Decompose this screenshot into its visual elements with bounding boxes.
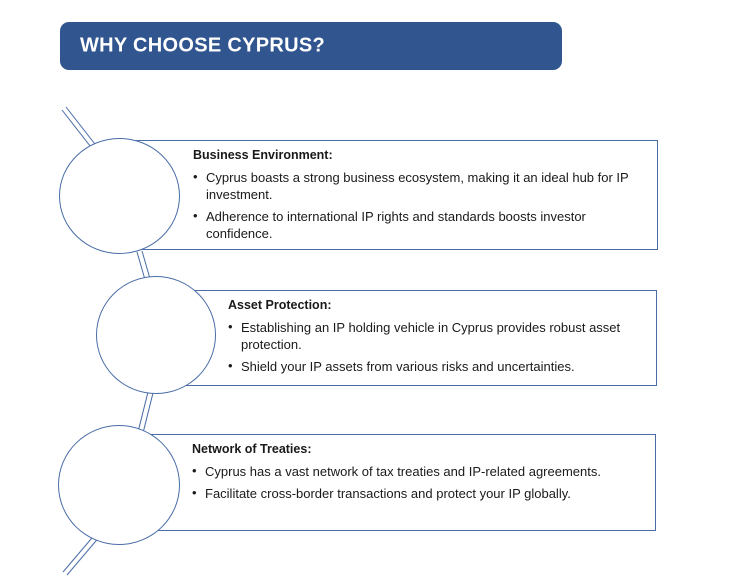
connector-2-3-icon bbox=[138, 392, 153, 433]
node-circle-2 bbox=[96, 276, 216, 394]
list-item: Cyprus boasts a strong business ecosyste… bbox=[193, 169, 649, 203]
content-box-3: Network of Treaties: Cyprus has a vast n… bbox=[119, 434, 656, 531]
block-heading-3: Network of Treaties: bbox=[192, 442, 647, 458]
node-circle-3 bbox=[58, 425, 180, 545]
infographic-page: WHY CHOOSE CYPRUS? bbox=[0, 0, 745, 586]
content-box-2-inner: Asset Protection: Establishing an IP hol… bbox=[228, 291, 648, 385]
bullet-list-2: Establishing an IP holding vehicle in Cy… bbox=[228, 319, 648, 375]
bullet-list-1: Cyprus boasts a strong business ecosyste… bbox=[193, 169, 649, 243]
list-item: Shield your IP assets from various risks… bbox=[228, 358, 648, 375]
list-item: Cyprus has a vast network of tax treatie… bbox=[192, 463, 647, 480]
content-box-1: Business Environment: Cyprus boasts a st… bbox=[120, 140, 658, 250]
list-item: Facilitate cross-border transactions and… bbox=[192, 485, 647, 502]
content-box-2: Asset Protection: Establishing an IP hol… bbox=[155, 290, 657, 386]
block-heading-2: Asset Protection: bbox=[228, 298, 648, 314]
content-box-3-inner: Network of Treaties: Cyprus has a vast n… bbox=[192, 435, 647, 530]
node-circle-1 bbox=[59, 138, 180, 254]
page-title: WHY CHOOSE CYPRUS? bbox=[80, 35, 325, 58]
title-banner: WHY CHOOSE CYPRUS? bbox=[60, 22, 562, 70]
bullet-list-3: Cyprus has a vast network of tax treatie… bbox=[192, 463, 647, 502]
list-item: Adherence to international IP rights and… bbox=[193, 208, 649, 242]
content-box-1-inner: Business Environment: Cyprus boasts a st… bbox=[193, 141, 649, 249]
block-heading-1: Business Environment: bbox=[193, 148, 649, 164]
list-item: Establishing an IP holding vehicle in Cy… bbox=[228, 319, 648, 353]
